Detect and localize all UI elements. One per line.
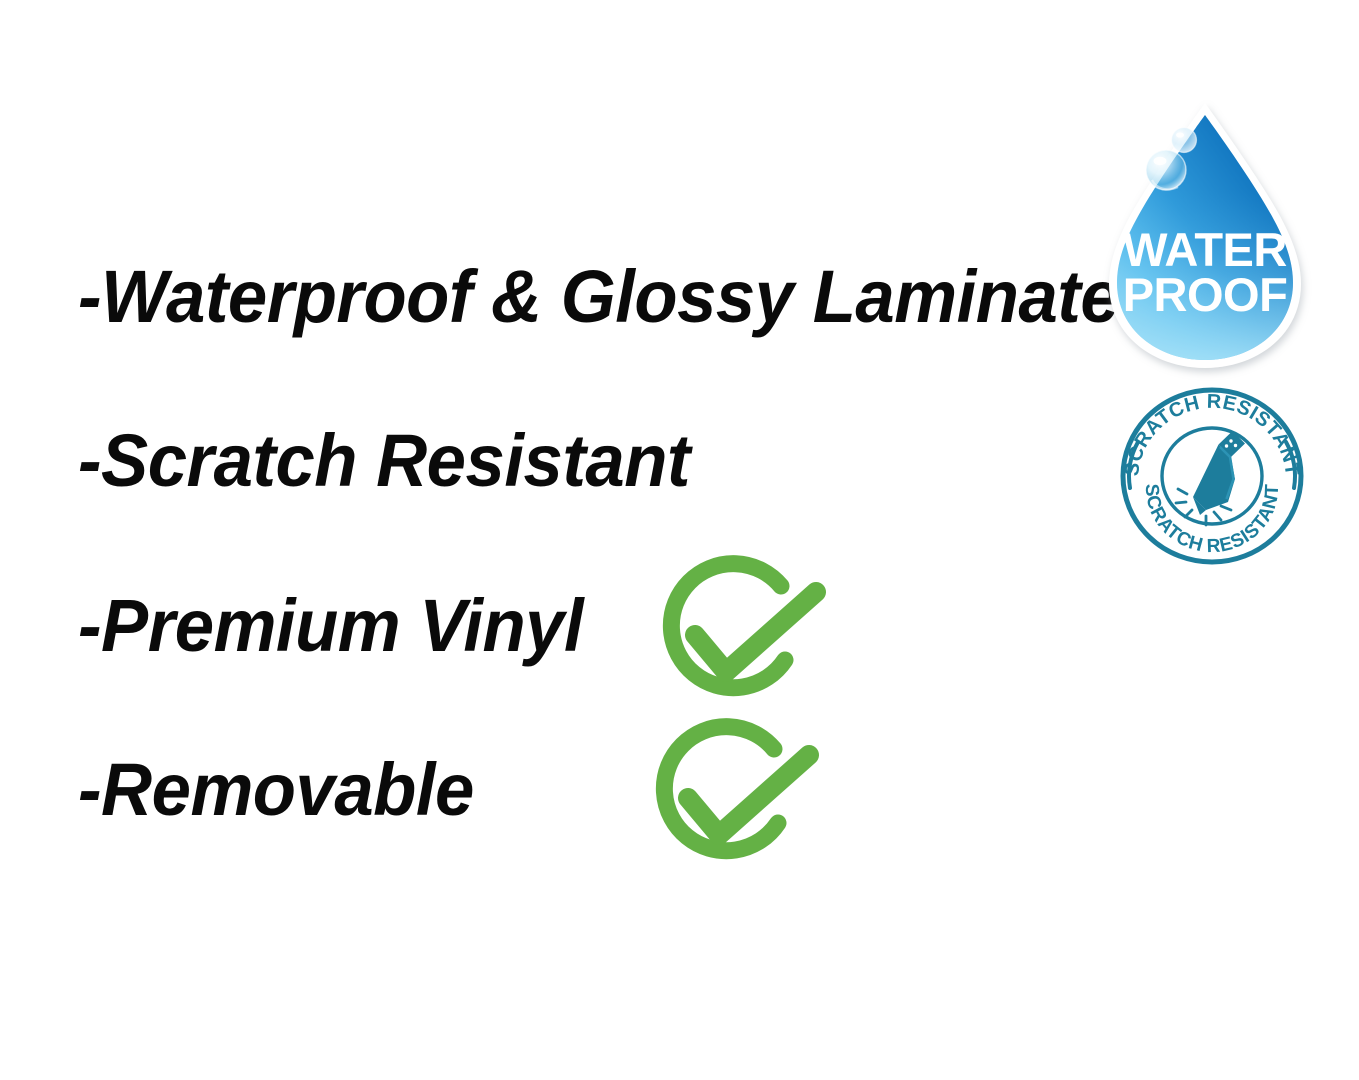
water-bubble-small-highlight	[1176, 132, 1184, 137]
knife-impact-mark-3	[1185, 510, 1192, 517]
knife-rivet-3	[1225, 444, 1228, 447]
check-mark-stroke	[688, 755, 809, 835]
waterproof-droplet-badge: WATER PROOF	[1098, 98, 1313, 373]
knife-impact-mark-1	[1178, 489, 1187, 494]
water-bubble-large-icon	[1146, 150, 1186, 190]
scratch-resistant-stamp-badge: SCRATCH RESISTANT SCRATCH RESISTANT	[1114, 384, 1310, 568]
green-check-icon	[633, 713, 833, 888]
knife-impact-mark-6	[1221, 506, 1231, 510]
water-bubble-small-icon	[1172, 128, 1197, 153]
feature-item-removable: -Removable	[78, 753, 474, 827]
feature-item-scratch-resistant: -Scratch Resistant	[78, 424, 690, 498]
scratch-resistant-stamp-icon: SCRATCH RESISTANT SCRATCH RESISTANT	[1114, 384, 1310, 568]
feature-item-waterproof-glossy-laminated: -Waterproof & Glossy Laminated	[78, 260, 1162, 334]
feature-list: -Waterproof & Glossy Laminated -Scratch …	[0, 0, 1100, 1080]
waterproof-droplet-icon: WATER PROOF	[1098, 98, 1313, 373]
knife-impact-mark-5	[1214, 512, 1221, 520]
green-check-removable	[633, 713, 833, 888]
feature-highlights-graphic: -Waterproof & Glossy Laminated -Scratch …	[0, 0, 1359, 1080]
knife-rivet-1	[1229, 439, 1232, 442]
feature-item-premium-vinyl: -Premium Vinyl	[78, 589, 583, 663]
knife-icon	[1176, 431, 1245, 525]
green-check-icon	[640, 550, 840, 725]
green-check-premium-vinyl	[640, 550, 840, 725]
waterproof-line2: PROOF	[1123, 268, 1288, 321]
check-mark-stroke	[695, 592, 816, 672]
knife-impact-mark-2	[1176, 502, 1186, 503]
water-bubble-large-highlight	[1154, 157, 1167, 165]
knife-rivet-2	[1234, 444, 1237, 447]
